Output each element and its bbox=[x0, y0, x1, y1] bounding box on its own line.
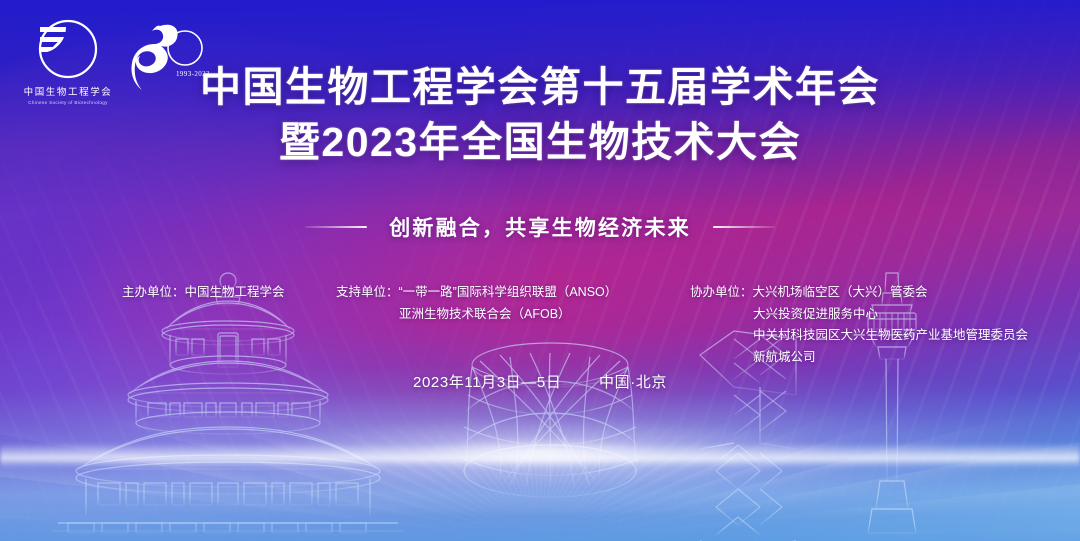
slogan-text: 创新融合，共享生物经济未来 bbox=[389, 212, 691, 242]
title-line-2: 暨2023年全国生物技术大会 bbox=[0, 115, 1080, 170]
co-organizer-item-2: 中关村科技园区大兴生物医药产业基地管理委员会 bbox=[690, 325, 1028, 347]
host-organizer-label: 主办单位： bbox=[122, 285, 185, 299]
support-organizer-line-0: 支持单位：“一带一路”国际科学组织联盟（ANSO） bbox=[336, 282, 617, 304]
title-block: 中国生物工程学会第十五届学术年会 暨2023年全国生物技术大会 bbox=[0, 60, 1080, 171]
co-organizer-line-0: 协办单位：大兴机场临空区（大兴）管委会 bbox=[690, 282, 1028, 304]
event-location: 中国·北京 bbox=[599, 374, 667, 391]
host-organizer-column: 主办单位：中国生物工程学会 bbox=[122, 282, 285, 304]
slogan-row: 创新融合，共享生物经济未来 bbox=[0, 212, 1080, 242]
support-organizer-item-1: 亚洲生物技术联合会（AFOB） bbox=[336, 304, 617, 326]
conference-banner: 中国生物工程学会 Chinese Society of Biotechnolog… bbox=[0, 0, 1080, 541]
title-line-1: 中国生物工程学会第十五届学术年会 bbox=[0, 60, 1080, 115]
support-organizer-item-0: “一带一路”国际科学组织联盟（ANSO） bbox=[399, 285, 618, 299]
event-date-location: 2023年11月3日—5日 中国·北京 bbox=[0, 371, 1080, 392]
co-organizer-item-0: 大兴机场临空区（大兴）管委会 bbox=[753, 285, 928, 299]
slogan-dash-left bbox=[305, 226, 367, 228]
slogan-dash-right bbox=[713, 226, 775, 228]
co-organizer-item-3: 新航城公司 bbox=[690, 347, 1028, 369]
host-organizer-item-0: 中国生物工程学会 bbox=[185, 285, 285, 299]
host-organizer-line: 主办单位：中国生物工程学会 bbox=[122, 282, 285, 304]
support-organizer-column: 支持单位：“一带一路”国际科学组织联盟（ANSO） 亚洲生物技术联合会（AFOB… bbox=[336, 282, 617, 325]
horizon-rays bbox=[0, 411, 1080, 541]
event-date: 2023年11月3日—5日 bbox=[413, 374, 561, 391]
organizers-block: 主办单位：中国生物工程学会 支持单位：“一带一路”国际科学组织联盟（ANSO） … bbox=[0, 282, 1080, 362]
co-organizer-column: 协办单位：大兴机场临空区（大兴）管委会 大兴投资促进服务中心 中关村科技园区大兴… bbox=[690, 282, 1028, 368]
co-organizer-item-1: 大兴投资促进服务中心 bbox=[690, 304, 1028, 326]
support-organizer-label: 支持单位： bbox=[336, 285, 399, 299]
co-organizer-label: 协办单位： bbox=[690, 285, 753, 299]
